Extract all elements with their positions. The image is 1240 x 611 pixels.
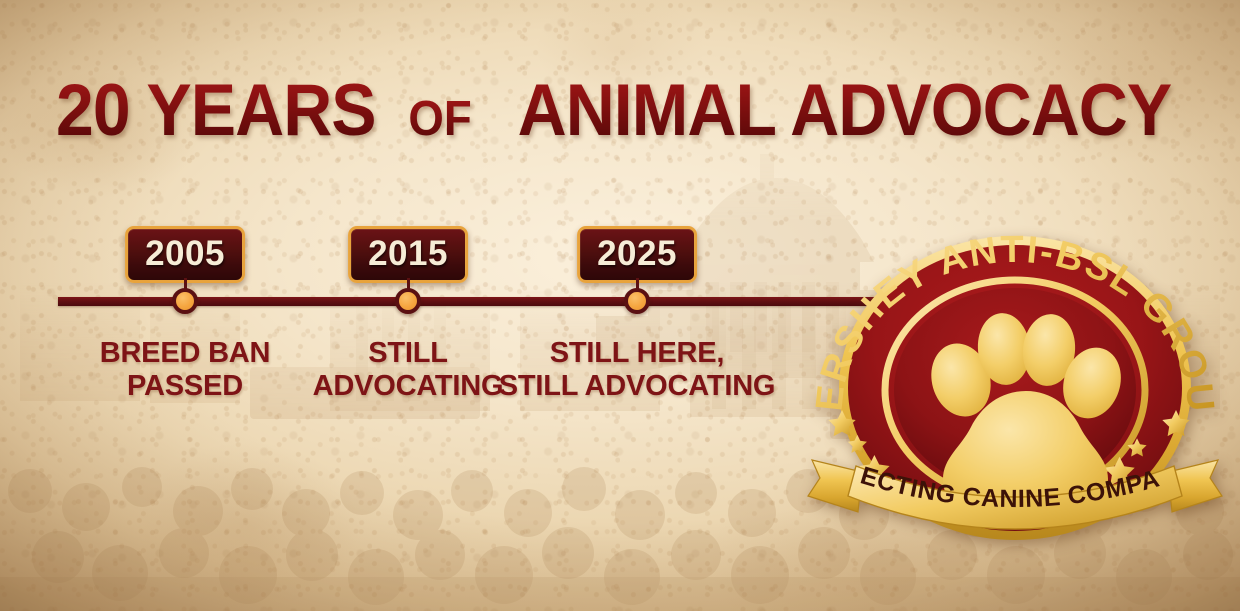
year-badge-2[interactable]: 2025 (577, 226, 697, 283)
star-icon (1127, 438, 1146, 456)
title-part-3: ANIMAL ADVOCACY (518, 74, 1172, 147)
background-crowd-photo (0, 281, 1240, 611)
page-title: 20 YEARSOFANIMAL ADVOCACY (0, 74, 1240, 147)
year-label: 2025 (597, 234, 677, 273)
seal-star-left-group (828, 410, 867, 453)
year-label: 2005 (145, 234, 225, 273)
milestone-dot[interactable] (395, 288, 421, 314)
milestone-caption-2: STILL HERE, STILL ADVOCATING (499, 337, 776, 403)
milestone-dot[interactable] (172, 288, 198, 314)
organization-seal-logo[interactable]: HERSHEY ANTI-BSL GROUP (806, 228, 1224, 540)
star-icon (1162, 410, 1189, 436)
milestone-dot[interactable] (624, 288, 650, 314)
star-icon (891, 478, 913, 499)
title-part-1: 20 YEARS (56, 74, 376, 147)
year-label: 2015 (368, 234, 448, 273)
year-badge-1[interactable]: 2015 (348, 226, 468, 283)
caption-line-2: ADVOCATING (313, 370, 504, 403)
poster-canvas: 20 YEARSOFANIMAL ADVOCACY 2005 BREED BAN… (0, 0, 1240, 611)
paw-print-icon (923, 310, 1130, 520)
caption-line-1: STILL HERE, (550, 337, 725, 369)
caption-line-2: PASSED (100, 370, 271, 403)
milestone-caption-0: BREED BAN PASSED (100, 337, 271, 403)
title-part-2: OF (404, 95, 477, 144)
caption-line-2: STILL ADVOCATING (499, 370, 776, 403)
seal-lower-stars (859, 455, 1134, 502)
milestone-caption-1: STILL ADVOCATING (313, 337, 504, 403)
seal-ribbon: PROTECTING CANINE COMPANIONS (806, 228, 1222, 529)
star-icon (828, 410, 855, 436)
star-icon (848, 435, 867, 453)
seal-arc-text: HERSHEY ANTI-BSL GROUP (806, 228, 1222, 415)
caption-line-1: STILL (368, 337, 448, 369)
timeline-rail (58, 297, 1068, 306)
star-icon (1104, 457, 1134, 486)
seal-ribbon-text: PROTECTING CANINE COMPANIONS (806, 228, 1163, 513)
year-badge-0[interactable]: 2005 (125, 226, 245, 283)
star-icon (859, 455, 889, 484)
seal-star-right-group (1127, 410, 1189, 456)
caption-line-1: BREED BAN (100, 337, 271, 369)
star-icon (1080, 481, 1102, 502)
